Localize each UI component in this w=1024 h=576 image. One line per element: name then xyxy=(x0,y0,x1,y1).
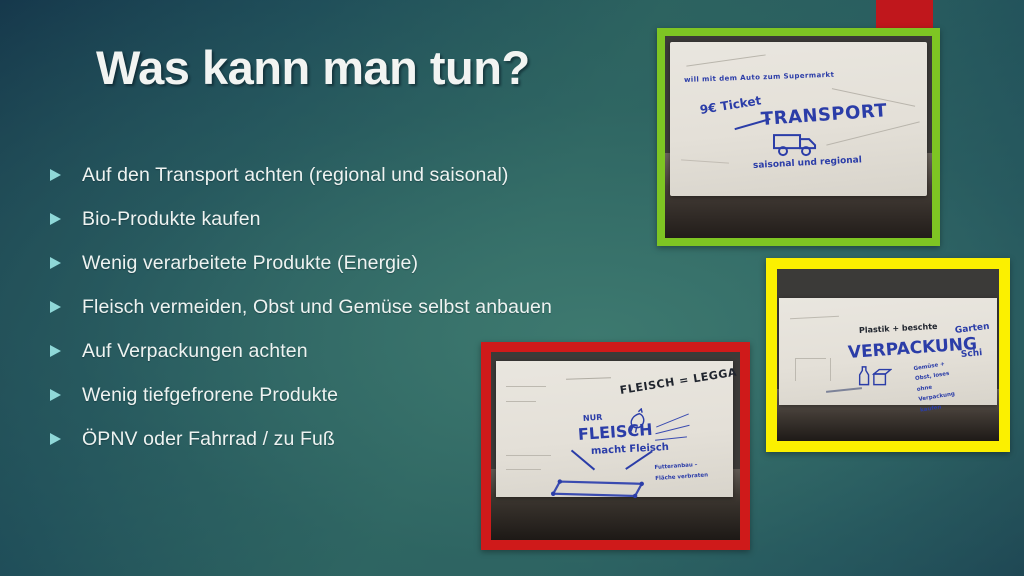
presentation-slide: Was kann man tun? Auf den Transport acht… xyxy=(0,0,1024,576)
list-item-label: Bio-Produkte kaufen xyxy=(82,208,261,231)
photo-transport: will mit dem Auto zum Supermarkt 9€ Tick… xyxy=(657,28,940,246)
photo-fleisch-image: FLEISCH = LEGGA NUR FLEISCH macht Fleisc… xyxy=(491,352,740,540)
packaging-doodle-icon xyxy=(857,362,893,390)
triangle-bullet-icon xyxy=(48,344,62,358)
plate-doodle-icon xyxy=(551,476,651,500)
photo-transport-image: will mit dem Auto zum Supermarkt 9€ Tick… xyxy=(665,36,932,238)
triangle-bullet-icon xyxy=(48,256,62,270)
list-item: Fleisch vermeiden, Obst und Gemüse selbs… xyxy=(44,289,664,325)
list-item: Wenig verarbeitete Produkte (Energie) xyxy=(44,245,664,281)
photo-verpackung: Plastik + beschte VERPACKUNG Garten Schi… xyxy=(766,258,1010,452)
triangle-bullet-icon xyxy=(48,300,62,314)
list-item-label: Wenig verarbeitete Produkte (Energie) xyxy=(82,252,418,275)
list-item: Auf den Transport achten (regional und s… xyxy=(44,157,664,193)
list-item-label: Wenig tiefgefrorene Produkte xyxy=(82,384,338,407)
red-accent-block xyxy=(876,0,933,29)
triangle-bullet-icon xyxy=(48,212,62,226)
triangle-bullet-icon xyxy=(48,168,62,182)
triangle-bullet-icon xyxy=(48,388,62,402)
list-item-label: Fleisch vermeiden, Obst und Gemüse selbs… xyxy=(82,296,552,319)
list-item-label: Auf Verpackungen achten xyxy=(82,340,308,363)
list-item: Bio-Produkte kaufen xyxy=(44,201,664,237)
triangle-bullet-icon xyxy=(48,432,62,446)
slide-title: Was kann man tun? xyxy=(96,40,530,95)
photo-fleisch: FLEISCH = LEGGA NUR FLEISCH macht Fleisc… xyxy=(481,342,750,550)
list-item-label: Auf den Transport achten (regional und s… xyxy=(82,164,508,187)
truck-doodle-icon xyxy=(772,131,820,157)
photo-verpackung-image: Plastik + beschte VERPACKUNG Garten Schi… xyxy=(777,269,999,441)
chicken-doodle-icon xyxy=(625,408,650,434)
list-item-label: ÖPNV oder Fahrrad / zu Fuß xyxy=(82,428,335,451)
